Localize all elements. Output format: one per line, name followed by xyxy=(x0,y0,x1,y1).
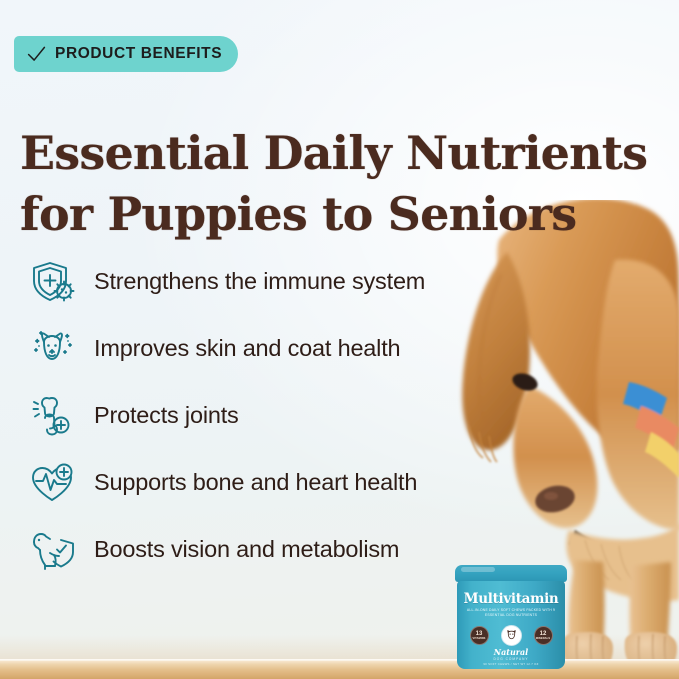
heart-ecg-plus-icon xyxy=(28,459,76,507)
vitamins-badge: 13 VITAMINS xyxy=(470,626,489,645)
brand-name: Natural xyxy=(457,647,565,657)
dog-head-logo-icon xyxy=(505,629,518,642)
jar-body: Multivitamin ALL-IN-ONE DAILY SOFT CHEWS… xyxy=(457,581,565,669)
shield-plus-virus-icon xyxy=(28,258,76,306)
badge-label: PRODUCT BENEFITS xyxy=(55,45,222,63)
benefit-item: Boosts vision and metabolism xyxy=(0,516,520,583)
minerals-caption: MINERALS xyxy=(536,638,550,641)
table-surface xyxy=(0,661,679,679)
joint-bone-plus-icon xyxy=(28,392,76,440)
product-title: Multivitamin xyxy=(457,591,565,607)
benefit-item: Strengthens the immune system xyxy=(0,248,520,315)
benefits-list: Strengthens the immune system xyxy=(0,248,520,583)
product-benefits-graphic: PRODUCT BENEFITS Essential Daily Nutrien… xyxy=(0,0,679,679)
jar-badge-group: 13 VITAMINS 12 MINERALS xyxy=(457,625,565,646)
benefit-label: Improves skin and coat health xyxy=(94,335,400,362)
check-icon xyxy=(27,45,46,64)
benefit-item: Supports bone and heart health xyxy=(0,449,520,516)
product-subtitle: ALL-IN-ONE DAILY SOFT CHEWS PACKED WITH … xyxy=(457,608,565,618)
benefit-item: Improves skin and coat health xyxy=(0,315,520,382)
dog-shield-check-icon xyxy=(28,526,76,574)
brand-tagline: DOG COMPANY xyxy=(457,657,565,661)
benefit-item: Protects joints xyxy=(0,382,520,449)
benefit-label: Strengthens the immune system xyxy=(94,268,425,295)
product-benefits-badge: PRODUCT BENEFITS xyxy=(14,36,238,72)
minerals-count: 12 xyxy=(540,631,547,637)
headline-line-2: for Puppies to Seniors xyxy=(20,184,665,245)
dog-face-sparkle-icon xyxy=(28,325,76,373)
product-jar: Multivitamin ALL-IN-ONE DAILY SOFT CHEWS… xyxy=(455,565,567,670)
benefit-label: Supports bone and heart health xyxy=(94,469,417,496)
vitamins-count: 13 xyxy=(476,631,483,637)
table-shadow xyxy=(0,635,679,661)
vitamins-caption: VITAMINS xyxy=(473,638,486,641)
jar-lid xyxy=(455,565,567,582)
benefit-label: Boosts vision and metabolism xyxy=(94,536,399,563)
page-title: Essential Daily Nutrients for Puppies to… xyxy=(20,123,665,244)
benefit-label: Protects joints xyxy=(94,402,239,429)
headline-line-1: Essential Daily Nutrients xyxy=(20,126,647,180)
dog-logo-badge xyxy=(501,625,522,646)
minerals-badge: 12 MINERALS xyxy=(534,626,553,645)
net-weight: 90 SOFT CHEWS / NET WT 12.7 OZ xyxy=(457,662,565,666)
